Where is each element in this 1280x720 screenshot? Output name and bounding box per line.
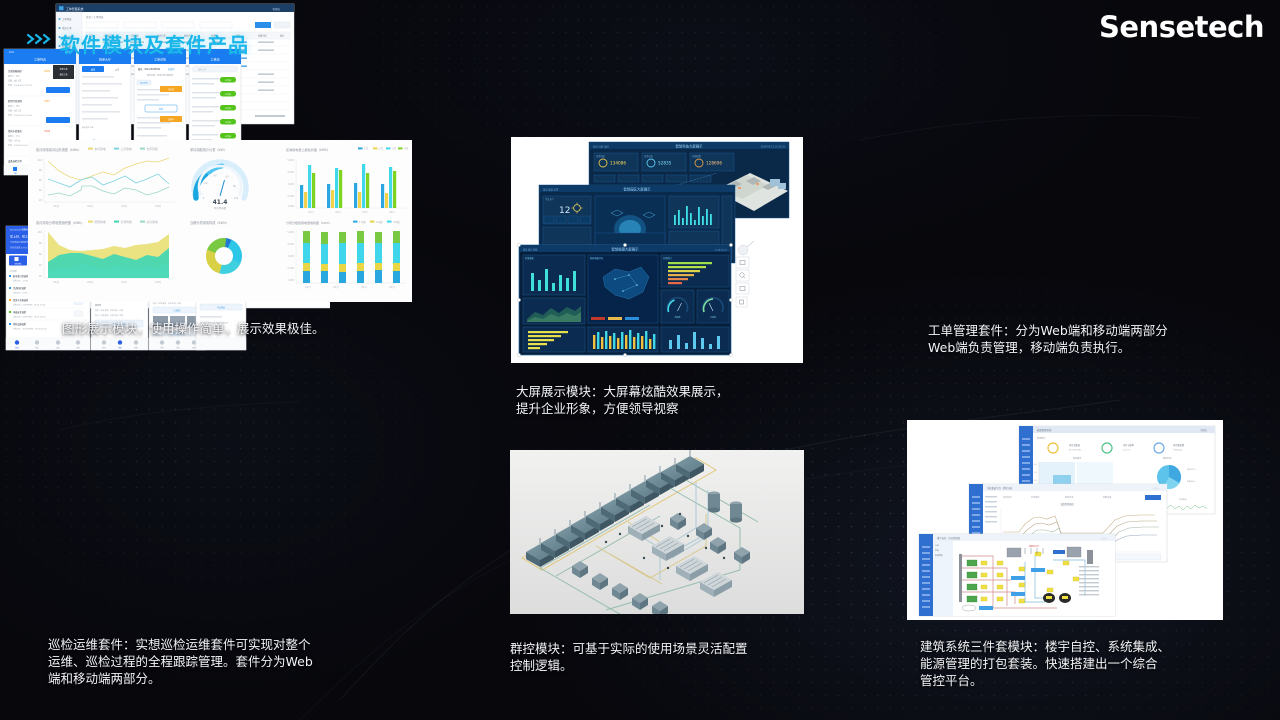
- svg-text:20: 20: [39, 198, 43, 202]
- svg-text:照明灯具更换: 照明灯具更换: [8, 99, 22, 103]
- svg-text:2024-05-21 10:26:31: 2024-05-21 10:26:31: [761, 146, 786, 149]
- svg-text:100: 100: [37, 230, 42, 234]
- bigscreen-collage-svg: 智慧科技大屏展示 首页 分析 监控 2024-05-21 10:26:31 13…: [511, 137, 803, 363]
- svg-text:52835: 52835: [658, 161, 672, 166]
- svg-text:04月: 04月: [389, 210, 394, 214]
- svg-text:我的: 我的: [134, 347, 138, 350]
- svg-text:40: 40: [39, 188, 43, 192]
- svg-text:总用电量: 总用电量: [596, 154, 606, 158]
- building-systems-svg: 能源管理系统 管理员 能耗概览 本月总能耗 87,320 kWh: [907, 420, 1223, 620]
- triple-chevron-right-icon: [26, 33, 54, 45]
- svg-text:20: 20: [39, 274, 43, 278]
- svg-text:总能耗费: 总能耗费: [692, 154, 702, 158]
- svg-text:80: 80: [39, 168, 43, 172]
- svg-text:2,000: 2,000: [287, 195, 294, 198]
- slide-header: 软件模块及套件产品 Sensetech: [0, 0, 1280, 62]
- svg-text:任务: 任务: [118, 347, 122, 350]
- svg-text:任务: 任务: [176, 347, 180, 350]
- analytics-dashboard-svg: 各月用电量对比折线图（kWh） 本月用电 上月用电 去年同期 1008060 4…: [28, 140, 412, 302]
- svg-text:4,000: 4,000: [287, 243, 294, 246]
- svg-text:管理员: 管理员: [1200, 428, 1207, 432]
- svg-text:配电室日常巡检: 配电室日常巡检: [13, 274, 29, 278]
- svg-text:本月用电: 本月用电: [95, 147, 106, 151]
- svg-text:消息: 消息: [56, 347, 60, 350]
- svg-text:区域能耗: 区域能耗: [525, 256, 535, 260]
- hvac-isometric-svg: [510, 450, 804, 614]
- svg-text:5,000: 5,000: [287, 159, 294, 162]
- svg-text:04月: 04月: [155, 204, 161, 208]
- svg-text:编号：WO-20240521: 编号：WO-20240521: [138, 67, 161, 71]
- svg-text:空调机房巡检: 空调机房巡检: [13, 286, 27, 290]
- svg-text:3号: 3号: [392, 147, 397, 151]
- svg-text:首页: 首页: [102, 347, 106, 350]
- svg-text:能耗地图分布: 能耗地图分布: [590, 256, 604, 260]
- svg-text:消防设施巡检: 消防设施巡检: [13, 322, 27, 326]
- svg-text:给排水系统巡检: 给排水系统巡检: [13, 298, 29, 302]
- svg-text:2024-05-21: 2024-05-21: [715, 250, 728, 252]
- screenshot-group-control-module[interactable]: [510, 450, 804, 614]
- svg-text:60: 60: [39, 252, 43, 256]
- svg-text:我的: 我的: [76, 347, 80, 350]
- svg-text:处理中: 处理中: [168, 67, 175, 71]
- svg-text:04月: 04月: [389, 285, 394, 289]
- svg-text:100: 100: [234, 197, 239, 200]
- screenshot-graphic-display-module[interactable]: 各月用电量对比折线图（kWh） 本月用电 上月用电 去年同期 1008060 4…: [28, 140, 412, 302]
- svg-text:2,000: 2,000: [287, 267, 294, 270]
- svg-text:温度趋势曲线: 温度趋势曲线: [1060, 502, 1074, 506]
- svg-text:87,320 kWh: 87,320 kWh: [1069, 450, 1082, 452]
- svg-text:任务: 任务: [35, 347, 39, 350]
- svg-text:首页 统计 趋势: 首页 统计 趋势: [523, 248, 538, 252]
- svg-text:3,000: 3,000: [287, 255, 294, 258]
- svg-text:12: 12: [559, 206, 570, 216]
- svg-text:4号: 4号: [404, 147, 409, 151]
- svg-text:100: 100: [37, 158, 42, 162]
- brand-logo: Sensetech: [1099, 10, 1264, 44]
- svg-text:单月用电量: 单月用电量: [214, 206, 227, 210]
- svg-text:分项排行: 分项排行: [663, 256, 673, 260]
- svg-text:智慧科技大屏展示: 智慧科技大屏展示: [675, 144, 703, 149]
- svg-text:01月: 01月: [53, 280, 59, 284]
- svg-text:给排水管维修: 给排水管维修: [8, 129, 22, 133]
- caption-graphic-display: 图形展示模块，使用操作简单，展示效果极佳。: [62, 320, 422, 337]
- svg-text:区域用电量上报柱状图（kWh）: 区域用电量上报柱状图（kWh）: [286, 147, 330, 152]
- svg-text:单月用能统计仪表（kW）: 单月用能统计仪表（kW）: [190, 147, 227, 152]
- svg-text:分项分楼层用电量堆叠图（kWh）: 分项分楼层用电量堆叠图（kWh）: [286, 220, 332, 225]
- svg-text:智慧园区大屏展示: 智慧园区大屏展示: [623, 187, 651, 192]
- svg-text:首页: 首页: [15, 347, 19, 350]
- svg-text:40: 40: [39, 263, 43, 267]
- svg-text:当期分项用电构成（kWh）: 当期分项用电构成（kWh）: [190, 220, 229, 225]
- svg-text:80: 80: [39, 241, 43, 245]
- caption-building-systems: 建筑系统三件套模块：楼宇自控、系统集成、 能源管理的打包套装。快速搭建出一个综合…: [920, 638, 1250, 689]
- svg-text:本月总能耗: 本月总能耗: [1069, 443, 1081, 447]
- svg-text:03月: 03月: [121, 280, 127, 284]
- svg-text:5,000: 5,000: [287, 231, 294, 234]
- svg-text:1,000: 1,000: [287, 279, 294, 282]
- svg-text:系统集成平台 · 趋势分析: 系统集成平台 · 趋势分析: [987, 486, 1013, 490]
- svg-text:04月: 04月: [155, 280, 161, 284]
- svg-text:4,000: 4,000: [287, 171, 294, 174]
- svg-text:各月用电量对比折线图（kWh）: 各月用电量对比折线图（kWh）: [36, 147, 81, 152]
- svg-text:01月: 01月: [305, 285, 310, 289]
- svg-text:首页 分析 监控: 首页 分析 监控: [593, 145, 609, 149]
- svg-text:本月能耗费: 本月能耗费: [1173, 443, 1185, 447]
- svg-text:楼宇自控 · 冷站系统图: 楼宇自控 · 冷站系统图: [937, 536, 961, 540]
- svg-text:去年同期: 去年同期: [147, 147, 158, 151]
- svg-text:1号: 1号: [364, 147, 369, 151]
- svg-text:今日天气: 今日天气: [545, 197, 555, 201]
- svg-text:电梯安全巡检: 电梯安全巡检: [13, 310, 27, 314]
- slide-root: 软件模块及套件产品 Sensetech 各月用电量对比折线图（kWh） 本月用电…: [0, 0, 1280, 720]
- caption-inspection: 巡检运维套件：实想巡检运维套件可实现对整个 运维、巡检过程的全程跟踪管理。套件分…: [48, 636, 398, 687]
- svg-text:首页 能耗 告警: 首页 能耗 告警: [543, 188, 559, 192]
- svg-text:动力用电: 动力用电: [147, 220, 158, 224]
- svg-text:2号楼: 2号楼: [376, 220, 383, 224]
- svg-text:— □ ×: — □ ×: [1100, 537, 1107, 540]
- svg-text:本月节能率: 本月节能率: [1123, 443, 1135, 447]
- svg-text:我的: 我的: [192, 347, 196, 350]
- svg-text:128696: 128696: [706, 161, 722, 166]
- svg-text:空调用电: 空调用电: [121, 220, 132, 224]
- svg-text:各月用电分项堆叠面积图（kWh）: 各月用电分项堆叠面积图（kWh）: [36, 220, 84, 225]
- svg-text:2号: 2号: [379, 147, 384, 151]
- svg-text:03月: 03月: [121, 204, 127, 208]
- svg-text:01月: 01月: [308, 210, 313, 214]
- svg-text:03月: 03月: [362, 210, 367, 214]
- svg-text:设备巡检异常: 设备巡检异常: [8, 159, 22, 163]
- svg-text:首页: 首页: [160, 347, 164, 350]
- page-title: 软件模块及套件产品: [60, 29, 249, 58]
- svg-text:3,000: 3,000: [287, 183, 294, 186]
- svg-text:12.4 %: 12.4 %: [1123, 450, 1130, 452]
- svg-text:能源管理系统: 能源管理系统: [1037, 428, 1052, 432]
- caption-group-control: 群控模块：可基于实际的使用场景灵活配置 控制逻辑。: [510, 640, 810, 674]
- svg-text:1,000: 1,000: [287, 205, 294, 208]
- svg-text:03月: 03月: [361, 285, 366, 289]
- svg-text:41.4: 41.4: [213, 199, 228, 206]
- svg-text:智慧能源大屏展示: 智慧能源大屏展示: [611, 247, 639, 252]
- caption-big-screen: 大屏展示模块：大屏幕炫酷效果展示， 提升企业形象，方便领导视察: [516, 383, 806, 417]
- svg-text:总用水量: 总用水量: [644, 154, 654, 158]
- svg-text:134086: 134086: [610, 161, 626, 166]
- caption-work-order: 工单管理套件：分为Web端和移动端两部分 Web端负责管理，移动端负责执行。: [928, 322, 1248, 356]
- screenshot-building-systems-module[interactable]: 能源管理系统 管理员 能耗概览 本月总能耗 87,320 kWh: [907, 420, 1223, 620]
- screenshot-big-screen-module[interactable]: 智慧科技大屏展示 首页 分析 监控 2024-05-21 10:26:31 13…: [511, 137, 803, 363]
- svg-text:照明用电: 照明用电: [95, 220, 106, 224]
- svg-text:60: 60: [39, 178, 43, 182]
- svg-text:02月: 02月: [333, 285, 338, 289]
- svg-text:巡检任务: 巡检任务: [15, 263, 22, 266]
- svg-text:1号楼: 1号楼: [359, 220, 366, 224]
- svg-text:— □ ×: — □ ×: [1152, 487, 1159, 490]
- svg-text:01月: 01月: [53, 204, 59, 208]
- svg-text:工单: 工单: [13, 172, 17, 175]
- svg-text:02月: 02月: [87, 204, 93, 208]
- svg-text:空调故障报修: 空调故障报修: [8, 69, 22, 73]
- svg-text:3号楼: 3号楼: [393, 220, 400, 224]
- svg-text:上月用电: 上月用电: [121, 147, 132, 151]
- svg-text:02月: 02月: [335, 210, 340, 214]
- svg-text:02月: 02月: [87, 280, 93, 284]
